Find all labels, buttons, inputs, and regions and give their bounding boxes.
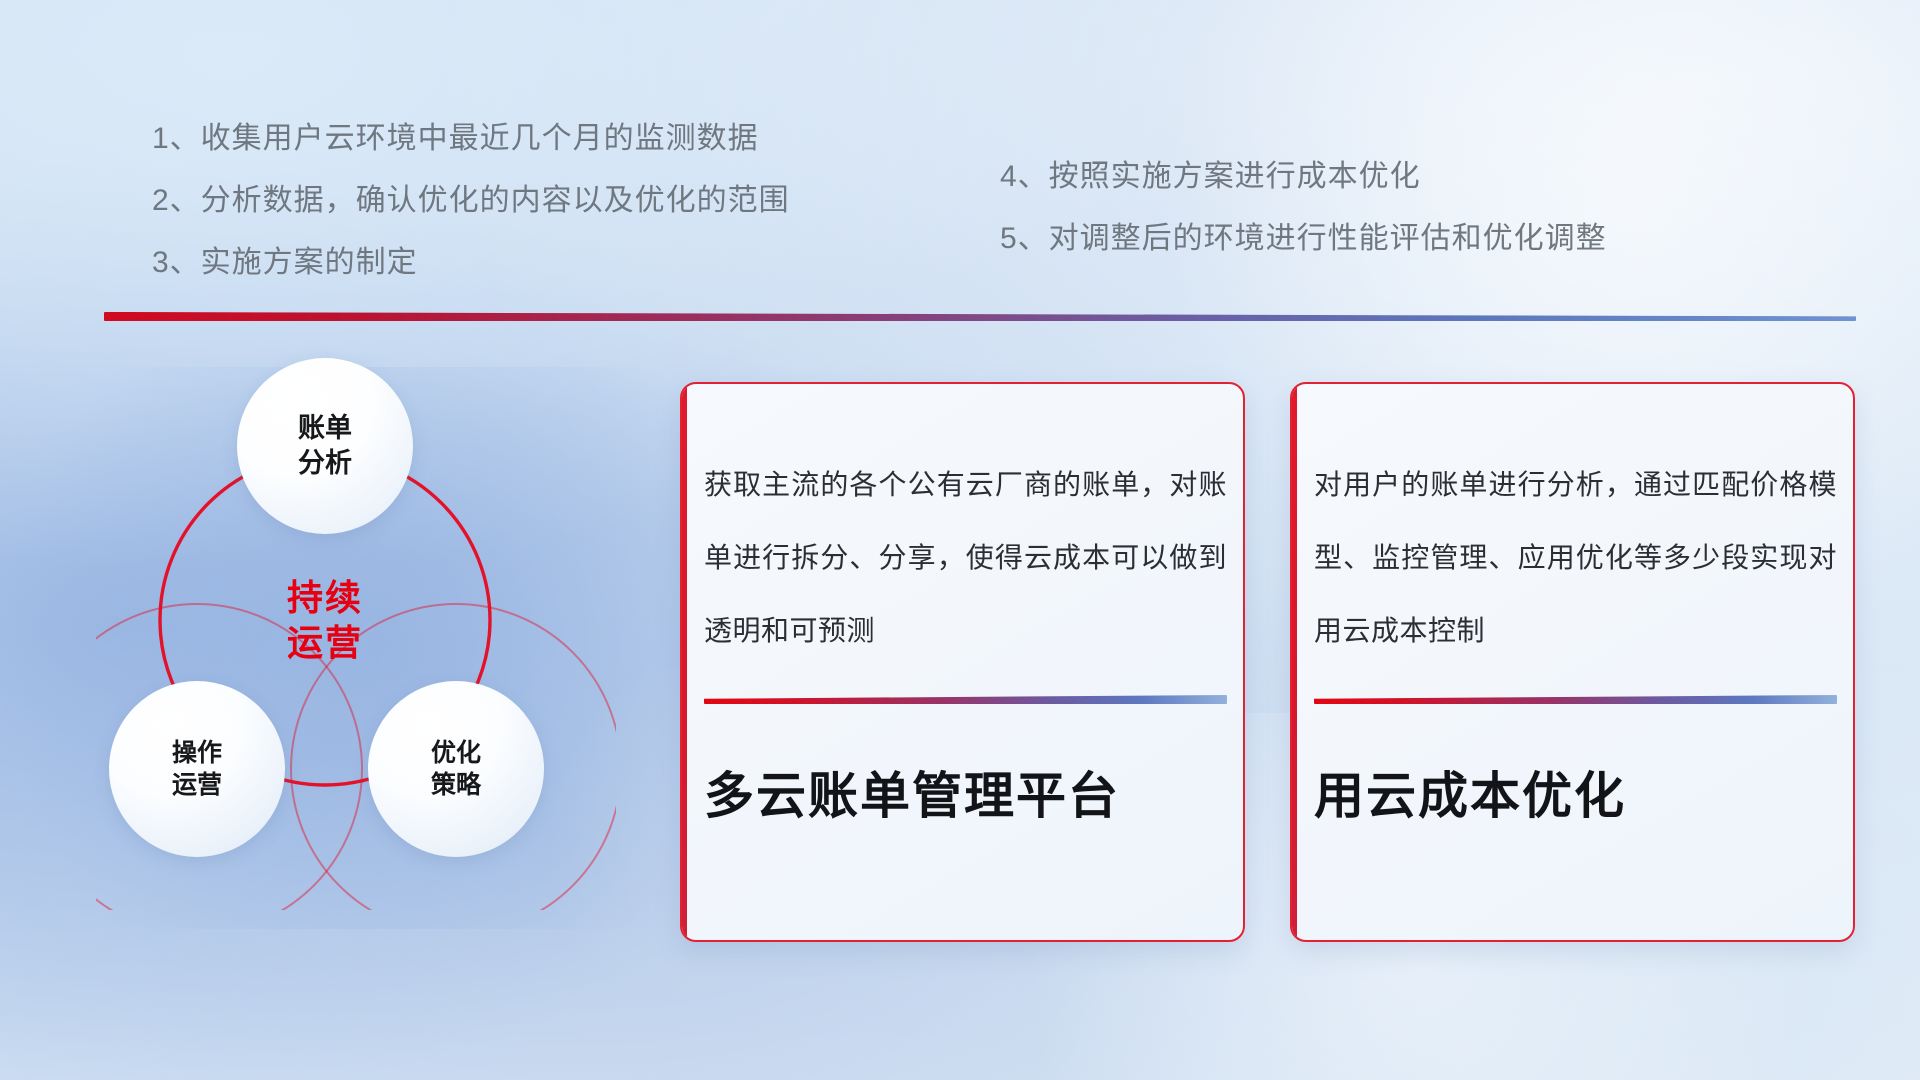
feature-card-cloud-cost-optimization[interactable]: 对用户的账单进行分析，通过匹配价格模型、监控管理、应用优化等多少段实现对用云成本… (1290, 382, 1855, 942)
slide: 1、收集用户云环境中最近几个月的监测数据 2、分析数据，确认优化的内容以及优化的… (0, 0, 1920, 1080)
card-divider-line (704, 695, 1227, 704)
bubble-label-line1: 操作 (172, 737, 222, 769)
step-item: 1、收集用户云环境中最近几个月的监测数据 (152, 108, 790, 170)
card-title: 多云账单管理平台 (704, 756, 1227, 828)
continuous-operation-diagram: 持续 运营 账单 分析 操作 运营 优化 策略 (96, 350, 616, 910)
card-description: 对用户的账单进行分析，通过匹配价格模型、监控管理、应用优化等多少段实现对用云成本… (1314, 402, 1837, 667)
step-item: 5、对调整后的环境进行性能评估和优化调整 (1000, 208, 1607, 270)
bubble-label-line2: 策略 (431, 769, 481, 801)
card-content: 对用户的账单进行分析，通过匹配价格模型、监控管理、应用优化等多少段实现对用云成本… (1314, 402, 1837, 926)
steps-column-right: 4、按照实施方案进行成本优化 5、对调整后的环境进行性能评估和优化调整 (1000, 146, 1607, 270)
feature-card-multicloud-billing[interactable]: 获取主流的各个公有云厂商的账单，对账单进行拆分、分享，使得云成本可以做到透明和可… (680, 382, 1245, 942)
bubble-label-line1: 账单 (298, 411, 352, 446)
card-content: 获取主流的各个公有云厂商的账单，对账单进行拆分、分享，使得云成本可以做到透明和可… (704, 402, 1227, 926)
diagram-bubble-bill-analysis[interactable]: 账单 分析 (237, 358, 413, 534)
step-item: 3、实施方案的制定 (152, 232, 790, 294)
steps-column-left: 1、收集用户云环境中最近几个月的监测数据 2、分析数据，确认优化的内容以及优化的… (152, 108, 790, 294)
card-title: 用云成本优化 (1314, 756, 1837, 828)
bubble-label-line2: 运营 (172, 769, 222, 801)
card-divider-line (1314, 695, 1837, 704)
diagram-bubble-optimization-strategy[interactable]: 优化 策略 (368, 681, 544, 857)
card-description: 获取主流的各个公有云厂商的账单，对账单进行拆分、分享，使得云成本可以做到透明和可… (704, 402, 1227, 667)
diagram-bubble-operations[interactable]: 操作 运营 (109, 681, 285, 857)
bubble-label-line1: 优化 (431, 737, 481, 769)
center-label-line2: 运营 (287, 620, 363, 665)
center-label-line1: 持续 (287, 575, 363, 620)
bubble-label-line2: 分析 (298, 446, 352, 481)
diagram-center-label: 持续 运营 (255, 555, 395, 685)
section-divider-line (104, 312, 1856, 321)
step-item: 2、分析数据，确认优化的内容以及优化的范围 (152, 170, 790, 232)
step-item: 4、按照实施方案进行成本优化 (1000, 146, 1607, 208)
